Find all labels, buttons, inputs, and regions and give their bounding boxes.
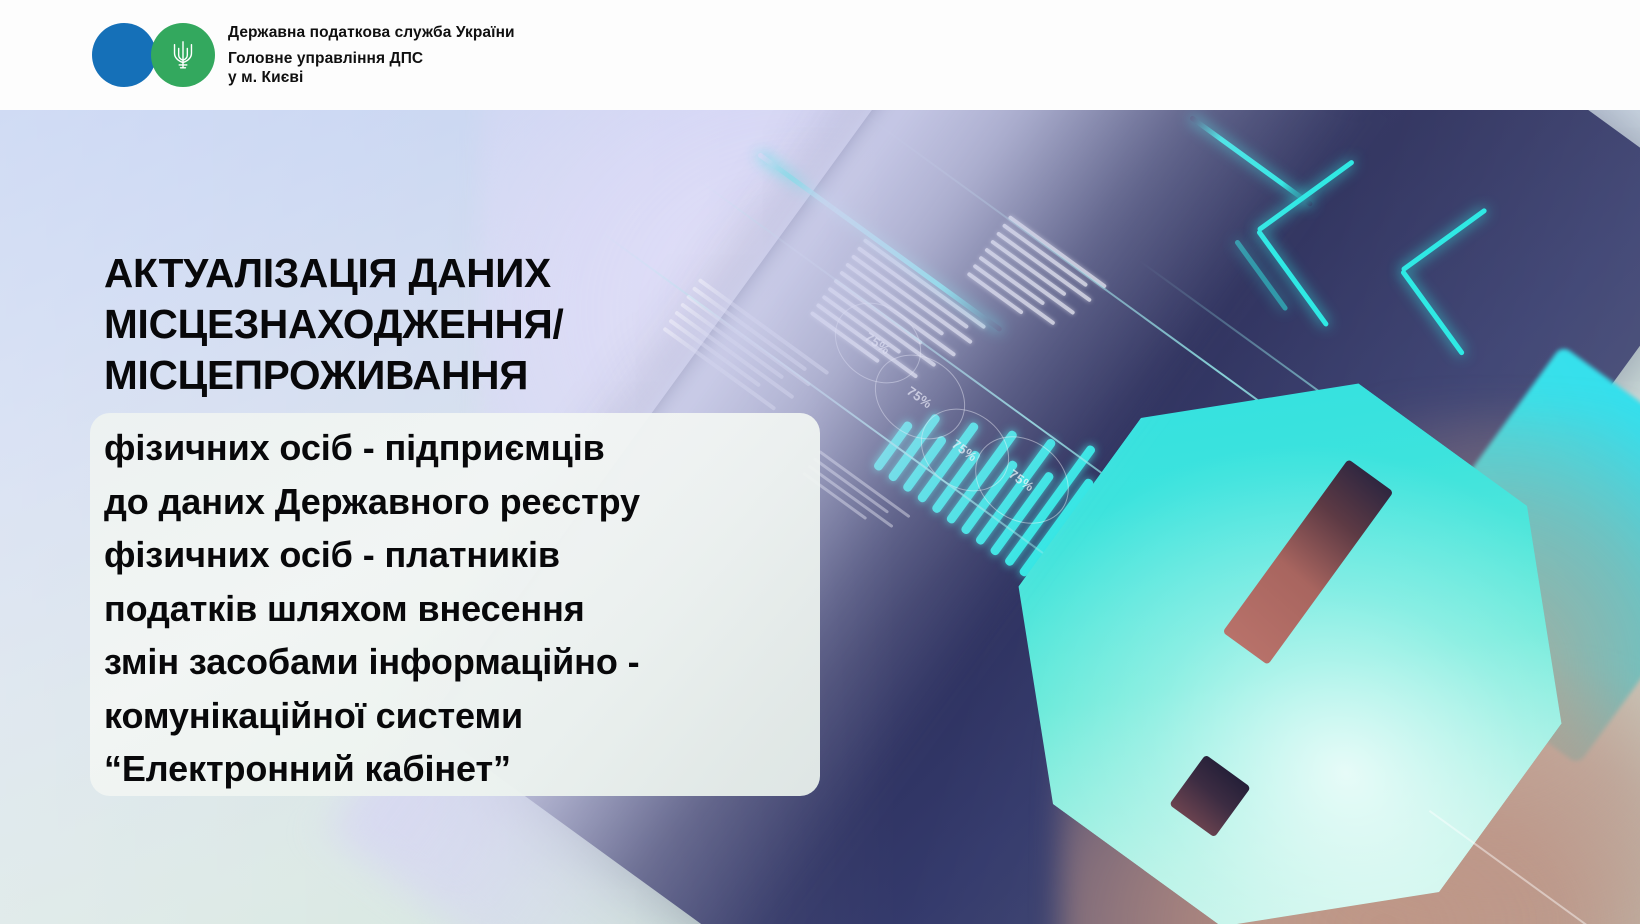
site-header: Державна податкова служба України Головн… bbox=[0, 0, 1640, 110]
logo-green-circle-icon bbox=[151, 23, 215, 87]
logo-blue-circle-icon bbox=[92, 23, 156, 87]
org-title-line2: Головне управління ДПС bbox=[228, 51, 515, 67]
title-line-1: АКТУАЛІЗАЦІЯ ДАНИХ bbox=[104, 248, 864, 299]
description-text: фізичних осіб - підприємців до даних Дер… bbox=[104, 421, 1004, 796]
neon-chevron-3 bbox=[1236, 238, 1436, 398]
ukraine-trident-icon bbox=[168, 39, 198, 71]
body-line-6: комунікаційної системи bbox=[104, 689, 1004, 743]
page-title: АКТУАЛІЗАЦІЯ ДАНИХ МІСЦЕЗНАХОДЖЕННЯ/ МІС… bbox=[104, 248, 864, 401]
body-line-5: змін засобами інформаційно - bbox=[104, 635, 1004, 689]
org-title-line1: Державна податкова служба України bbox=[228, 25, 515, 41]
title-line-3: МІСЦЕПРОЖИВАННЯ bbox=[104, 350, 864, 401]
dps-logo[interactable] bbox=[92, 19, 218, 91]
body-line-2: до даних Державного реєстру bbox=[104, 475, 1004, 529]
title-line-2: МІСЦЕЗНАХОДЖЕННЯ/ bbox=[104, 299, 864, 350]
body-line-4: податків шляхом внесення bbox=[104, 582, 1004, 636]
org-title-line3: у м. Києві bbox=[228, 70, 515, 86]
poster-page: Державна податкова служба України Головн… bbox=[0, 0, 1640, 924]
body-line-1: фізичних осіб - підприємців bbox=[104, 421, 1004, 475]
body-line-3: фізичних осіб - платників bbox=[104, 528, 1004, 582]
body-line-7: “Електронний кабінет” bbox=[104, 742, 1004, 796]
organization-name: Державна податкова служба України Головн… bbox=[228, 25, 515, 86]
